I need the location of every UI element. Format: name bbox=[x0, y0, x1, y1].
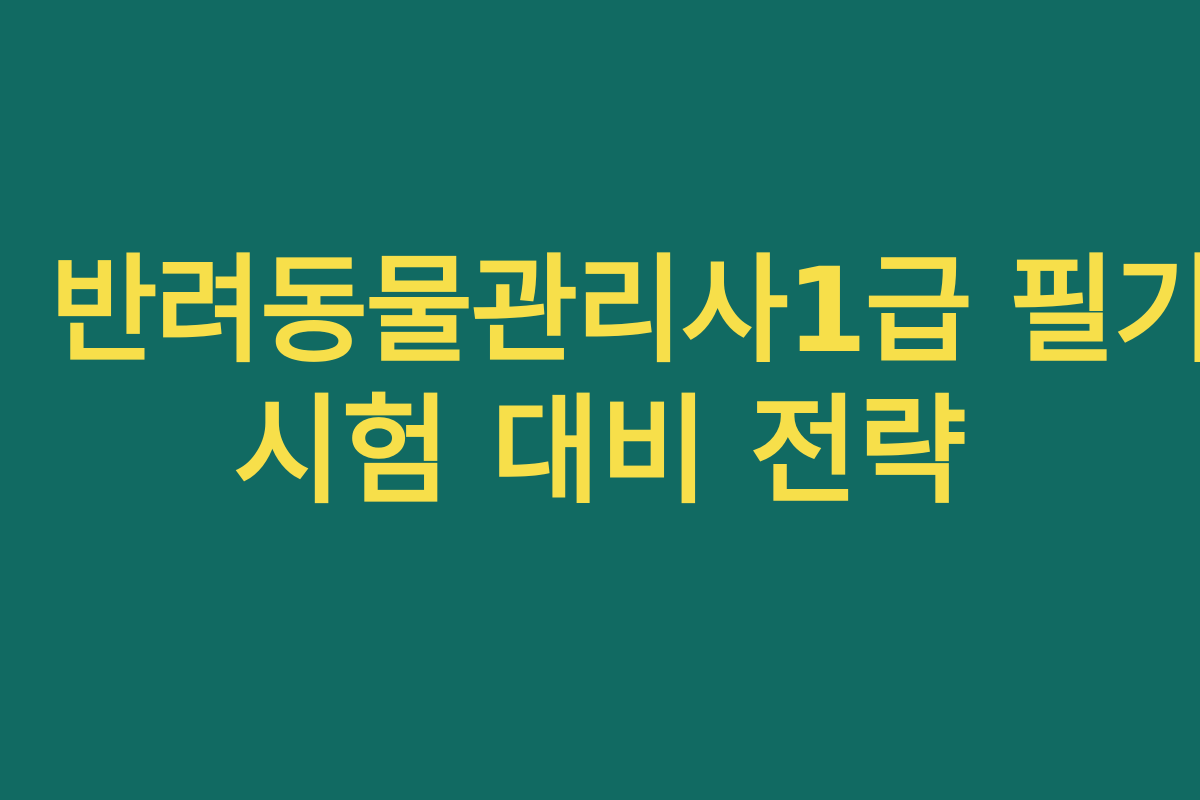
thumbnail-card: 반려동물관리사1급 필기 시험 대비 전략 bbox=[0, 0, 1200, 800]
title-block: 반려동물관리사1급 필기 시험 대비 전략 bbox=[50, 241, 1150, 521]
title-line-1: 반려동물관리사1급 필기 bbox=[50, 241, 1150, 381]
title-line-2: 시험 대비 전략 bbox=[50, 381, 1150, 521]
